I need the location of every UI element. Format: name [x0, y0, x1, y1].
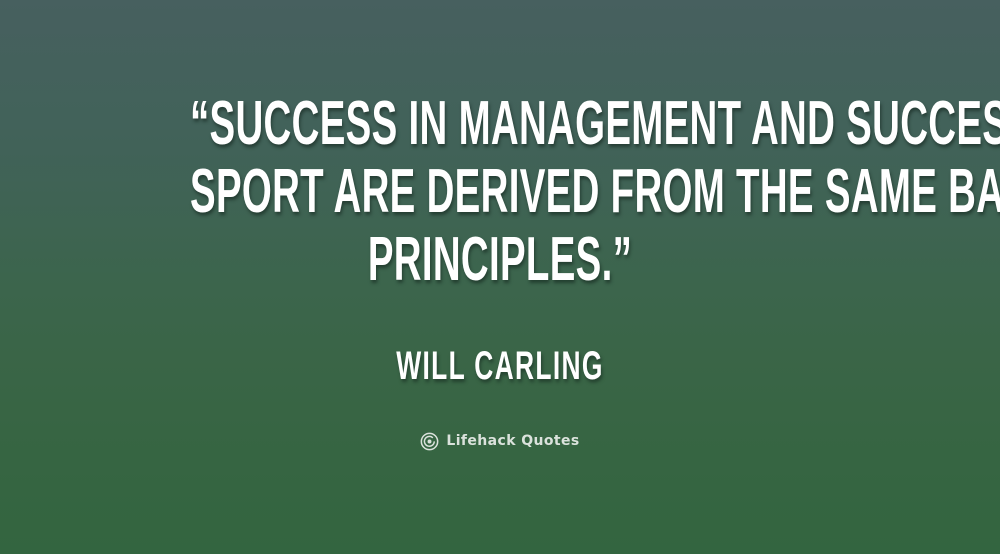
brand-name: Lifehack Quotes [446, 432, 579, 451]
quote-line-3: PRINCIPLES.” [190, 226, 810, 294]
quote-text: “SUCCESS IN MANAGEMENT AND SUCCESS IN SP… [190, 90, 810, 294]
lifehack-spiral-circle-icon [420, 432, 439, 451]
quote-line-1: “SUCCESS IN MANAGEMENT AND SUCCESS IN [190, 90, 810, 158]
brand-watermark: Lifehack Quotes [0, 432, 1000, 451]
quote-line-2: SPORT ARE DERIVED FROM THE SAME BASIC [190, 158, 810, 226]
quote-image-card: “SUCCESS IN MANAGEMENT AND SUCCESS IN SP… [0, 0, 1000, 554]
author-name: WILL CARLING [170, 344, 830, 388]
